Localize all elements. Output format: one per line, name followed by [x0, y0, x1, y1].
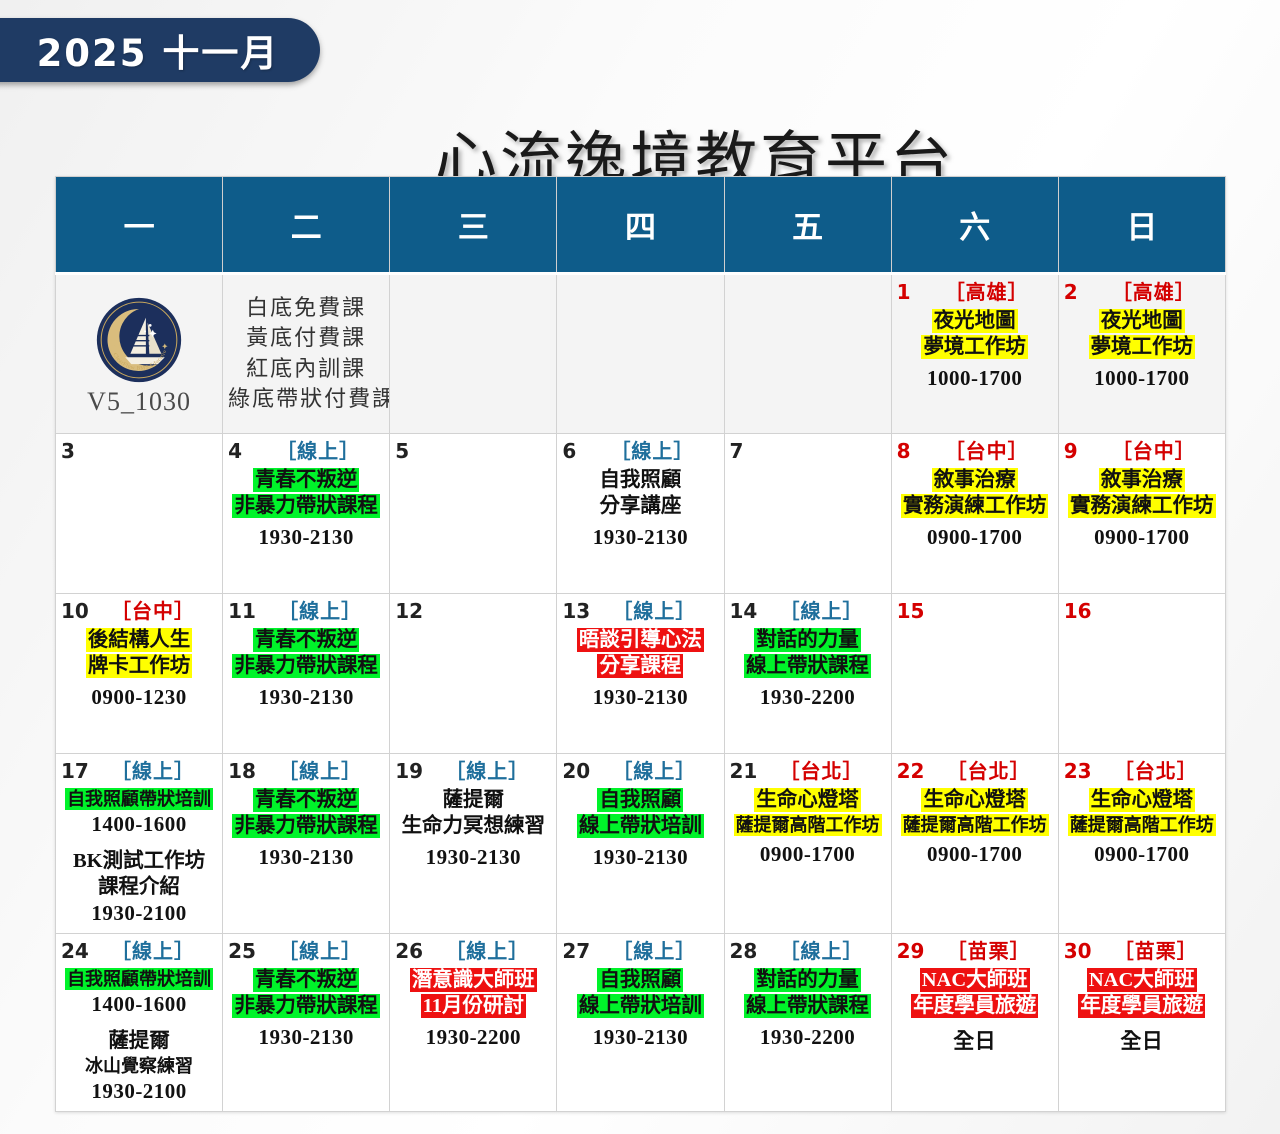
event-time: 全日 — [1064, 1025, 1220, 1055]
day-location-label: ［台中］ — [1096, 439, 1220, 465]
day-location-label: ［線上］ — [598, 939, 718, 965]
day-number: 8 — [897, 438, 921, 464]
day-header: 15 — [897, 598, 1053, 624]
event-title-text: 自我照顧 — [597, 468, 683, 492]
day-header: 10［台中］ — [61, 598, 217, 624]
event-list: 青春不叛逆非暴力帶狀課程1930-2130 — [228, 628, 384, 710]
event-title-text: 線上帶狀培訓 — [577, 994, 704, 1018]
event-title-line: 青春不叛逆 — [228, 788, 384, 814]
calendar-week-row: ClearFlow BMS Education Center V5_1030白底… — [56, 274, 1226, 434]
day-header: 8［台中］ — [897, 438, 1053, 464]
day-number: 24 — [61, 938, 89, 964]
calendar-event[interactable]: 後結構人生牌卡工作坊0900-1230 — [61, 628, 217, 710]
event-title-line: 潛意識大師班 — [395, 968, 551, 994]
day-cell-29: 29［苗栗］NAC大師班年度學員旅遊全日 — [891, 934, 1058, 1111]
event-time: 0900-1700 — [897, 842, 1053, 867]
event-title-line: 自我照顧 — [562, 468, 718, 494]
event-title-line: 線上帶狀課程 — [730, 654, 886, 680]
weekday-header-7: 日 — [1058, 177, 1225, 274]
event-time: 1930-2200 — [730, 1025, 886, 1050]
day-location-label: ［苗栗］ — [932, 939, 1052, 965]
event-title-text: 薩提爾 — [106, 1029, 172, 1053]
calendar-event[interactable]: 自我照顧線上帶狀培訓1930-2130 — [562, 788, 718, 870]
day-location-label: ［高雄］ — [1096, 280, 1220, 306]
day-header: 16 — [1064, 598, 1220, 624]
weekday-row: 一二三四五六日 — [56, 177, 1226, 274]
day-header: 22［台北］ — [897, 758, 1053, 784]
event-title-line: 冰山覺察練習 — [61, 1055, 217, 1078]
event-list: 敘事治療實務演練工作坊0900-1700 — [1064, 468, 1220, 550]
weekday-header-4: 四 — [557, 177, 724, 274]
empty-cell — [390, 274, 557, 434]
day-number: 12 — [395, 598, 423, 624]
event-title-line: 線上帶狀培訓 — [562, 814, 718, 840]
day-header: 3 — [61, 438, 217, 464]
event-title-text: 非暴力帶狀課程 — [232, 814, 380, 838]
day-header: 9［台中］ — [1064, 438, 1220, 464]
event-title-text: 薩提爾高階工作坊 — [734, 814, 882, 836]
calendar-event[interactable]: 夜光地圖夢境工作坊1000-1700 — [897, 309, 1053, 391]
event-list: 對話的力量線上帶狀課程1930-2200 — [730, 628, 886, 710]
month-badge-label: 2025 十一月 — [37, 23, 280, 77]
day-cell-27: 27［線上］自我照顧線上帶狀培訓1930-2130 — [557, 934, 724, 1111]
event-title-text: 夢境工作坊 — [1089, 335, 1196, 359]
event-title-text: 夢境工作坊 — [921, 335, 1028, 359]
calendar-table: 一二三四五六日 ClearFlow BMS Education Center V… — [55, 176, 1226, 1112]
day-location-label: ［台中］ — [97, 599, 217, 625]
event-title-line: 薩提爾高階工作坊 — [897, 814, 1053, 837]
day-cell-19: 19［線上］薩提爾生命力冥想練習1930-2130 — [390, 754, 557, 934]
event-title-text: 非暴力帶狀課程 — [232, 654, 380, 678]
day-number: 29 — [897, 938, 925, 964]
event-title-line: 薩提爾高階工作坊 — [730, 814, 886, 837]
event-time: 0900-1230 — [61, 685, 217, 710]
event-time: 0900-1700 — [1064, 525, 1220, 550]
calendar-event[interactable]: 青春不叛逆非暴力帶狀課程1930-2130 — [228, 788, 384, 870]
day-number: 16 — [1064, 598, 1092, 624]
day-number: 21 — [730, 758, 758, 784]
event-list: 敘事治療實務演練工作坊0900-1700 — [897, 468, 1053, 550]
event-title-line: 薩提爾 — [61, 1029, 217, 1055]
day-number: 9 — [1064, 438, 1088, 464]
day-header: 20［線上］ — [562, 758, 718, 784]
day-cell-2: 2［高雄］夜光地圖夢境工作坊1000-1700 — [1058, 274, 1225, 434]
event-title-text: 生命心燈塔 — [921, 788, 1028, 812]
calendar-event[interactable]: 自我照顧帶狀培訓1400-1600 — [61, 788, 217, 837]
day-location-label: ［線上］ — [264, 759, 384, 785]
legend-line: 綠底帶狀付費課 — [228, 384, 384, 414]
event-title-line: 線上帶狀課程 — [730, 994, 886, 1020]
day-number: 26 — [395, 938, 423, 964]
day-header: 13［線上］ — [562, 598, 718, 624]
day-location-label: ［線上］ — [765, 599, 885, 625]
day-number: 27 — [562, 938, 590, 964]
calendar-event[interactable]: 生命心燈塔薩提爾高階工作坊0900-1700 — [1064, 788, 1220, 867]
event-title-line: 夜光地圖 — [1064, 309, 1220, 335]
event-title-text: 後結構人生 — [86, 628, 193, 652]
legend-cell: 白底免費課黃底付費課紅底內訓課綠底帶狀付費課 — [223, 274, 390, 434]
event-time: 1930-2130 — [228, 685, 384, 710]
day-number: 22 — [897, 758, 925, 784]
calendar-event[interactable]: NAC大師班年度學員旅遊全日 — [897, 968, 1053, 1055]
day-cell-12: 12 — [390, 594, 557, 754]
day-location-label: ［線上］ — [264, 939, 384, 965]
event-list: 生命心燈塔薩提爾高階工作坊0900-1700 — [730, 788, 886, 867]
day-header: 4［線上］ — [228, 438, 384, 464]
event-title-text: 敘事治療 — [932, 468, 1018, 492]
day-number: 20 — [562, 758, 590, 784]
day-number: 11 — [228, 598, 256, 624]
event-title-text: 晤談引導心法 — [577, 628, 704, 652]
empty-cell — [724, 274, 891, 434]
event-title-line: 晤談引導心法 — [562, 628, 718, 654]
calendar-week-row: 34［線上］青春不叛逆非暴力帶狀課程1930-213056［線上］自我照顧分享講… — [56, 434, 1226, 594]
day-location-label: ［線上］ — [598, 759, 718, 785]
day-header: 29［苗栗］ — [897, 938, 1053, 964]
day-number: 3 — [61, 438, 85, 464]
day-location-label: ［台北］ — [932, 759, 1052, 785]
day-number: 1 — [897, 279, 921, 305]
event-title-line: 非暴力帶狀課程 — [228, 814, 384, 840]
event-time: 1930-2130 — [228, 845, 384, 870]
event-list: NAC大師班年度學員旅遊全日 — [1064, 968, 1220, 1055]
event-title-line: 對話的力量 — [730, 968, 886, 994]
day-location-label: ［線上］ — [431, 939, 551, 965]
event-title-text: 自我照顧 — [597, 968, 683, 992]
weekday-header-6: 六 — [891, 177, 1058, 274]
calendar-event[interactable]: 生命心燈塔薩提爾高階工作坊0900-1700 — [730, 788, 886, 867]
day-number: 18 — [228, 758, 256, 784]
event-title-line: 分享課程 — [562, 654, 718, 680]
event-title-text: 青春不叛逆 — [253, 468, 360, 492]
day-cell-24: 24［線上］自我照顧帶狀培訓1400-1600薩提爾冰山覺察練習1930-210… — [56, 934, 223, 1111]
day-header: 6［線上］ — [562, 438, 718, 464]
weekday-header-3: 三 — [390, 177, 557, 274]
event-title-line: 青春不叛逆 — [228, 468, 384, 494]
event-time: 1930-2130 — [562, 685, 718, 710]
day-number: 4 — [228, 438, 252, 464]
day-number: 14 — [730, 598, 758, 624]
day-cell-6: 6［線上］自我照顧分享講座1930-2130 — [557, 434, 724, 594]
event-title-line: 自我照顧帶狀培訓 — [61, 788, 217, 811]
calendar-event[interactable]: 青春不叛逆非暴力帶狀課程1930-2130 — [228, 628, 384, 710]
event-title-line: 薩提爾 — [395, 788, 551, 814]
event-title-text: 潛意識大師班 — [410, 968, 537, 992]
day-header: 1［高雄］ — [897, 279, 1053, 305]
event-title-line: 青春不叛逆 — [228, 628, 384, 654]
day-cell-3: 3 — [56, 434, 223, 594]
event-title-text: 生命力冥想練習 — [400, 814, 548, 838]
weekday-header-2: 二 — [223, 177, 390, 274]
event-time: 1400-1600 — [61, 992, 217, 1017]
event-title-line: 夢境工作坊 — [1064, 335, 1220, 361]
event-title-text: 薩提爾 — [441, 788, 507, 812]
day-location-label: ［線上］ — [594, 439, 718, 465]
event-title-line: 年度學員旅遊 — [897, 994, 1053, 1020]
event-title-line: 敘事治療 — [897, 468, 1053, 494]
calendar-event[interactable]: 自我照顧線上帶狀培訓1930-2130 — [562, 968, 718, 1050]
day-cell-22: 22［台北］生命心燈塔薩提爾高階工作坊0900-1700 — [891, 754, 1058, 934]
event-list: 自我照顧帶狀培訓1400-1600BK測試工作坊課程介紹1930-2100 — [61, 788, 217, 926]
day-number: 13 — [562, 598, 590, 624]
event-title-line: 非暴力帶狀課程 — [228, 654, 384, 680]
day-number: 10 — [61, 598, 89, 624]
event-title-text: 線上帶狀課程 — [744, 654, 871, 678]
event-title-text: 對話的力量 — [754, 628, 861, 652]
event-title-text: 非暴力帶狀課程 — [232, 994, 380, 1018]
event-title-text: 牌卡工作坊 — [86, 654, 193, 678]
event-title-text: 青春不叛逆 — [253, 788, 360, 812]
event-title-text: NAC大師班 — [1087, 968, 1197, 992]
day-cell-25: 25［線上］青春不叛逆非暴力帶狀課程1930-2130 — [223, 934, 390, 1111]
event-title-line: 11月份研討 — [395, 994, 551, 1020]
calendar-event[interactable]: 薩提爾生命力冥想練習1930-2130 — [395, 788, 551, 870]
empty-cell — [557, 274, 724, 434]
day-header: 14［線上］ — [730, 598, 886, 624]
event-title-line: 年度學員旅遊 — [1064, 994, 1220, 1020]
calendar-event[interactable]: NAC大師班年度學員旅遊全日 — [1064, 968, 1220, 1055]
event-title-line: 自我照顧 — [562, 968, 718, 994]
event-title-text: 實務演練工作坊 — [901, 494, 1049, 518]
event-title-line: 對話的力量 — [730, 628, 886, 654]
event-time: 1930-2130 — [228, 525, 384, 550]
day-number: 28 — [730, 938, 758, 964]
calendar-event[interactable]: 敘事治療實務演練工作坊0900-1700 — [1064, 468, 1220, 550]
day-cell-30: 30［苗栗］NAC大師班年度學員旅遊全日 — [1058, 934, 1225, 1111]
event-title-line: 後結構人生 — [61, 628, 217, 654]
calendar-week-row: 17［線上］自我照顧帶狀培訓1400-1600BK測試工作坊課程介紹1930-2… — [56, 754, 1226, 934]
event-title-text: 夜光地圖 — [1099, 309, 1185, 333]
day-cell-1: 1［高雄］夜光地圖夢境工作坊1000-1700 — [891, 274, 1058, 434]
day-number: 25 — [228, 938, 256, 964]
event-title-line: 實務演練工作坊 — [1064, 494, 1220, 520]
event-title-line: 敘事治療 — [1064, 468, 1220, 494]
event-list: 後結構人生牌卡工作坊0900-1230 — [61, 628, 217, 710]
day-cell-16: 16 — [1058, 594, 1225, 754]
event-title-line: 非暴力帶狀課程 — [228, 494, 384, 520]
event-title-text: 11月份研討 — [421, 994, 526, 1018]
calendar-event[interactable]: 自我照顧帶狀培訓1400-1600 — [61, 968, 217, 1017]
day-header: 27［線上］ — [562, 938, 718, 964]
day-number: 6 — [562, 438, 586, 464]
day-cell-21: 21［台北］生命心燈塔薩提爾高階工作坊0900-1700 — [724, 754, 891, 934]
legend-line: 黃底付費課 — [228, 323, 384, 353]
event-time: 0900-1700 — [1064, 842, 1220, 867]
day-header: 12 — [395, 598, 551, 624]
day-cell-20: 20［線上］自我照顧線上帶狀培訓1930-2130 — [557, 754, 724, 934]
event-title-line: 牌卡工作坊 — [61, 654, 217, 680]
event-list: 青春不叛逆非暴力帶狀課程1930-2130 — [228, 968, 384, 1050]
day-number: 5 — [395, 438, 419, 464]
day-header: 25［線上］ — [228, 938, 384, 964]
event-title-text: 生命心燈塔 — [1089, 788, 1196, 812]
day-cell-11: 11［線上］青春不叛逆非暴力帶狀課程1930-2130 — [223, 594, 390, 754]
event-time: 1930-2130 — [228, 1025, 384, 1050]
event-title-line: BK測試工作坊 — [61, 849, 217, 875]
event-time: 0900-1700 — [897, 525, 1053, 550]
day-location-label: ［線上］ — [97, 759, 217, 785]
day-header: 11［線上］ — [228, 598, 384, 624]
event-list: 生命心燈塔薩提爾高階工作坊0900-1700 — [1064, 788, 1220, 867]
day-number: 7 — [730, 438, 754, 464]
calendar-event[interactable]: 生命心燈塔薩提爾高階工作坊0900-1700 — [897, 788, 1053, 867]
event-time: 1930-2130 — [395, 845, 551, 870]
event-title-line: 生命心燈塔 — [897, 788, 1053, 814]
event-list: 對話的力量線上帶狀課程1930-2200 — [730, 968, 886, 1050]
event-time: 0900-1700 — [730, 842, 886, 867]
day-cell-15: 15 — [891, 594, 1058, 754]
day-header: 21［台北］ — [730, 758, 886, 784]
event-list: 自我照顧帶狀培訓1400-1600薩提爾冰山覺察練習1930-2100 — [61, 968, 217, 1103]
event-title-line: 自我照顧 — [562, 788, 718, 814]
event-title-text: 實務演練工作坊 — [1068, 494, 1216, 518]
calendar-event[interactable]: 潛意識大師班11月份研討1930-2200 — [395, 968, 551, 1050]
moon-sailboat-logo: ClearFlow BMS Education Center — [96, 297, 182, 383]
day-cell-9: 9［台中］敘事治療實務演練工作坊0900-1700 — [1058, 434, 1225, 594]
day-header: 28［線上］ — [730, 938, 886, 964]
day-cell-28: 28［線上］對話的力量線上帶狀課程1930-2200 — [724, 934, 891, 1111]
event-list: 夜光地圖夢境工作坊1000-1700 — [1064, 309, 1220, 391]
event-title-text: 薩提爾高階工作坊 — [1068, 814, 1216, 836]
calendar-event[interactable]: 晤談引導心法分享課程1930-2130 — [562, 628, 718, 710]
calendar-event[interactable]: 自我照顧分享講座1930-2130 — [562, 468, 718, 550]
calendar-event[interactable]: 夜光地圖夢境工作坊1000-1700 — [1064, 309, 1220, 391]
event-title-line: 青春不叛逆 — [228, 968, 384, 994]
day-header: 2［高雄］ — [1064, 279, 1220, 305]
calendar-event[interactable]: BK測試工作坊課程介紹1930-2100 — [61, 849, 217, 927]
day-header: 18［線上］ — [228, 758, 384, 784]
day-header: 5 — [395, 438, 551, 464]
event-time: 1400-1600 — [61, 812, 217, 837]
day-location-label: ［台中］ — [929, 439, 1053, 465]
calendar-body: ClearFlow BMS Education Center V5_1030白底… — [56, 274, 1226, 1112]
event-list: 青春不叛逆非暴力帶狀課程1930-2130 — [228, 788, 384, 870]
day-header: 23［台北］ — [1064, 758, 1220, 784]
day-header: 17［線上］ — [61, 758, 217, 784]
day-location-label: ［台北］ — [1100, 759, 1220, 785]
event-title-text: 線上帶狀課程 — [744, 994, 871, 1018]
calendar-event[interactable]: 青春不叛逆非暴力帶狀課程1930-2130 — [228, 468, 384, 550]
legend-line: 紅底內訓課 — [228, 354, 384, 384]
event-title-line: 薩提爾高階工作坊 — [1064, 814, 1220, 837]
event-title-text: 生命心燈塔 — [754, 788, 861, 812]
event-title-text: 年度學員旅遊 — [1078, 994, 1205, 1018]
logo-cell: ClearFlow BMS Education Center V5_1030 — [56, 274, 223, 434]
event-title-text: 冰山覺察練習 — [83, 1055, 195, 1077]
event-title-line: 線上帶狀培訓 — [562, 994, 718, 1020]
month-badge: 2025 十一月 — [0, 18, 320, 82]
event-title-text: 敘事治療 — [1099, 468, 1185, 492]
day-number: 30 — [1064, 938, 1092, 964]
day-number: 19 — [395, 758, 423, 784]
event-title-text: 非暴力帶狀課程 — [232, 494, 380, 518]
event-title-line: 實務演練工作坊 — [897, 494, 1053, 520]
event-title-line: NAC大師班 — [1064, 968, 1220, 994]
event-title-text: 線上帶狀培訓 — [577, 814, 704, 838]
day-location-label: ［線上］ — [97, 939, 217, 965]
event-list: 自我照顧線上帶狀培訓1930-2130 — [562, 968, 718, 1050]
day-cell-14: 14［線上］對話的力量線上帶狀課程1930-2200 — [724, 594, 891, 754]
day-location-label: ［線上］ — [264, 599, 384, 625]
event-title-text: 青春不叛逆 — [253, 628, 360, 652]
event-title-line: 夜光地圖 — [897, 309, 1053, 335]
event-time: 1930-2130 — [562, 1025, 718, 1050]
calendar-weekday-header: 一二三四五六日 — [56, 177, 1226, 274]
event-title-text: 年度學員旅遊 — [911, 994, 1038, 1018]
calendar-event[interactable]: 薩提爾冰山覺察練習1930-2100 — [61, 1029, 217, 1104]
event-time: 1930-2100 — [61, 901, 217, 926]
event-title-text: NAC大師班 — [920, 968, 1030, 992]
event-list: 自我照顧分享講座1930-2130 — [562, 468, 718, 550]
day-location-label: ［線上］ — [765, 939, 885, 965]
event-title-line: 分享講座 — [562, 494, 718, 520]
calendar-event[interactable]: 對話的力量線上帶狀課程1930-2200 — [730, 968, 886, 1050]
day-location-label: ［苗栗］ — [1100, 939, 1220, 965]
day-cell-5: 5 — [390, 434, 557, 594]
event-title-text: BK測試工作坊 — [71, 849, 207, 873]
event-list: 生命心燈塔薩提爾高階工作坊0900-1700 — [897, 788, 1053, 867]
event-time: 1930-2130 — [562, 525, 718, 550]
day-number: 23 — [1064, 758, 1092, 784]
day-location-label: ［線上］ — [598, 599, 718, 625]
event-list: 夜光地圖夢境工作坊1000-1700 — [897, 309, 1053, 391]
calendar-week-row: 24［線上］自我照顧帶狀培訓1400-1600薩提爾冰山覺察練習1930-210… — [56, 934, 1226, 1111]
day-location-label: ［高雄］ — [929, 280, 1053, 306]
logo-version-label: V5_1030 — [87, 387, 191, 417]
event-title-text: 自我照顧帶狀培訓 — [65, 968, 213, 990]
event-list: NAC大師班年度學員旅遊全日 — [897, 968, 1053, 1055]
day-location-label: ［台北］ — [765, 759, 885, 785]
event-title-text: 自我照顧 — [597, 788, 683, 812]
calendar-event[interactable]: 敘事治療實務演練工作坊0900-1700 — [897, 468, 1053, 550]
event-list: 自我照顧線上帶狀培訓1930-2130 — [562, 788, 718, 870]
weekday-header-1: 一 — [56, 177, 223, 274]
event-list: 潛意識大師班11月份研討1930-2200 — [395, 968, 551, 1050]
event-title-text: 自我照顧帶狀培訓 — [65, 788, 213, 810]
calendar-event[interactable]: 青春不叛逆非暴力帶狀課程1930-2130 — [228, 968, 384, 1050]
day-location-label: ［線上］ — [431, 759, 551, 785]
day-header: 19［線上］ — [395, 758, 551, 784]
calendar-event[interactable]: 對話的力量線上帶狀課程1930-2200 — [730, 628, 886, 710]
event-title-line: 夢境工作坊 — [897, 335, 1053, 361]
day-cell-26: 26［線上］潛意識大師班11月份研討1930-2200 — [390, 934, 557, 1111]
event-title-text: 分享講座 — [597, 494, 683, 518]
day-cell-18: 18［線上］青春不叛逆非暴力帶狀課程1930-2130 — [223, 754, 390, 934]
event-list: 晤談引導心法分享課程1930-2130 — [562, 628, 718, 710]
day-number: 2 — [1064, 279, 1088, 305]
calendar-week-row: 10［台中］後結構人生牌卡工作坊0900-123011［線上］青春不叛逆非暴力帶… — [56, 594, 1226, 754]
day-cell-10: 10［台中］後結構人生牌卡工作坊0900-1230 — [56, 594, 223, 754]
event-title-text: 課程介紹 — [96, 875, 182, 899]
day-header: 24［線上］ — [61, 938, 217, 964]
day-cell-7: 7 — [724, 434, 891, 594]
event-title-text: 夜光地圖 — [932, 309, 1018, 333]
day-number: 17 — [61, 758, 89, 784]
event-title-line: 生命心燈塔 — [730, 788, 886, 814]
day-cell-8: 8［台中］敘事治療實務演練工作坊0900-1700 — [891, 434, 1058, 594]
event-title-line: 生命力冥想練習 — [395, 814, 551, 840]
day-header: 26［線上］ — [395, 938, 551, 964]
event-time: 1000-1700 — [1064, 366, 1220, 391]
event-time: 1930-2130 — [562, 845, 718, 870]
event-list: 青春不叛逆非暴力帶狀課程1930-2130 — [228, 468, 384, 550]
event-title-text: 分享課程 — [597, 654, 683, 678]
event-time: 1930-2200 — [395, 1025, 551, 1050]
event-time: 1930-2200 — [730, 685, 886, 710]
event-title-line: 自我照顧帶狀培訓 — [61, 968, 217, 991]
day-cell-13: 13［線上］晤談引導心法分享課程1930-2130 — [557, 594, 724, 754]
day-cell-23: 23［台北］生命心燈塔薩提爾高階工作坊0900-1700 — [1058, 754, 1225, 934]
